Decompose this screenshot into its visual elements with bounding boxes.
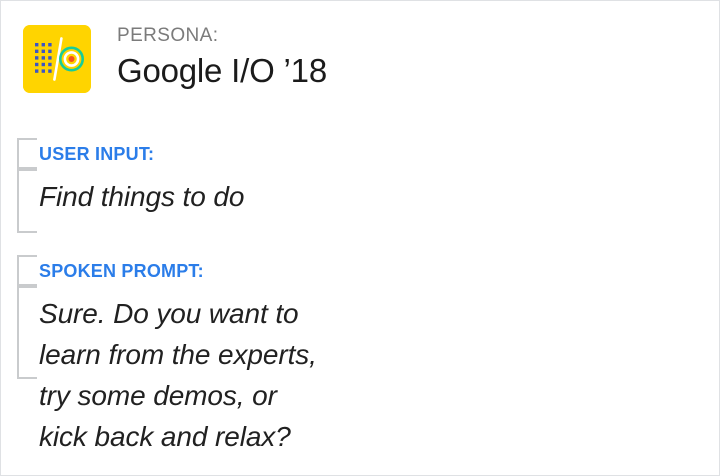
persona-name: Google I/O ’18: [117, 50, 327, 92]
persona-text-block: PERSONA: Google I/O ’18: [117, 24, 327, 92]
google-io-logo-icon: [23, 25, 91, 93]
user-input-section: USER INPUT: Find things to do: [17, 138, 317, 233]
persona-header: PERSONA: Google I/O ’18: [23, 25, 327, 93]
user-input-label-bracket: USER INPUT:: [17, 138, 317, 169]
persona-dialogue-card: PERSONA: Google I/O ’18 USER INPUT: Find…: [0, 0, 720, 476]
user-input-text: Find things to do: [39, 176, 244, 217]
spoken-prompt-text: Sure. Do you want to learn from the expe…: [39, 293, 317, 457]
spoken-prompt-text-bracket: Sure. Do you want to learn from the expe…: [17, 286, 317, 379]
user-input-text-bracket: Find things to do: [17, 169, 317, 233]
spoken-prompt-label-bracket: SPOKEN PROMPT:: [17, 255, 317, 286]
user-input-label: USER INPUT:: [39, 143, 154, 165]
persona-label: PERSONA:: [117, 24, 327, 48]
spoken-prompt-section: SPOKEN PROMPT: Sure. Do you want to lear…: [17, 255, 317, 379]
spoken-prompt-label: SPOKEN PROMPT:: [39, 260, 204, 282]
